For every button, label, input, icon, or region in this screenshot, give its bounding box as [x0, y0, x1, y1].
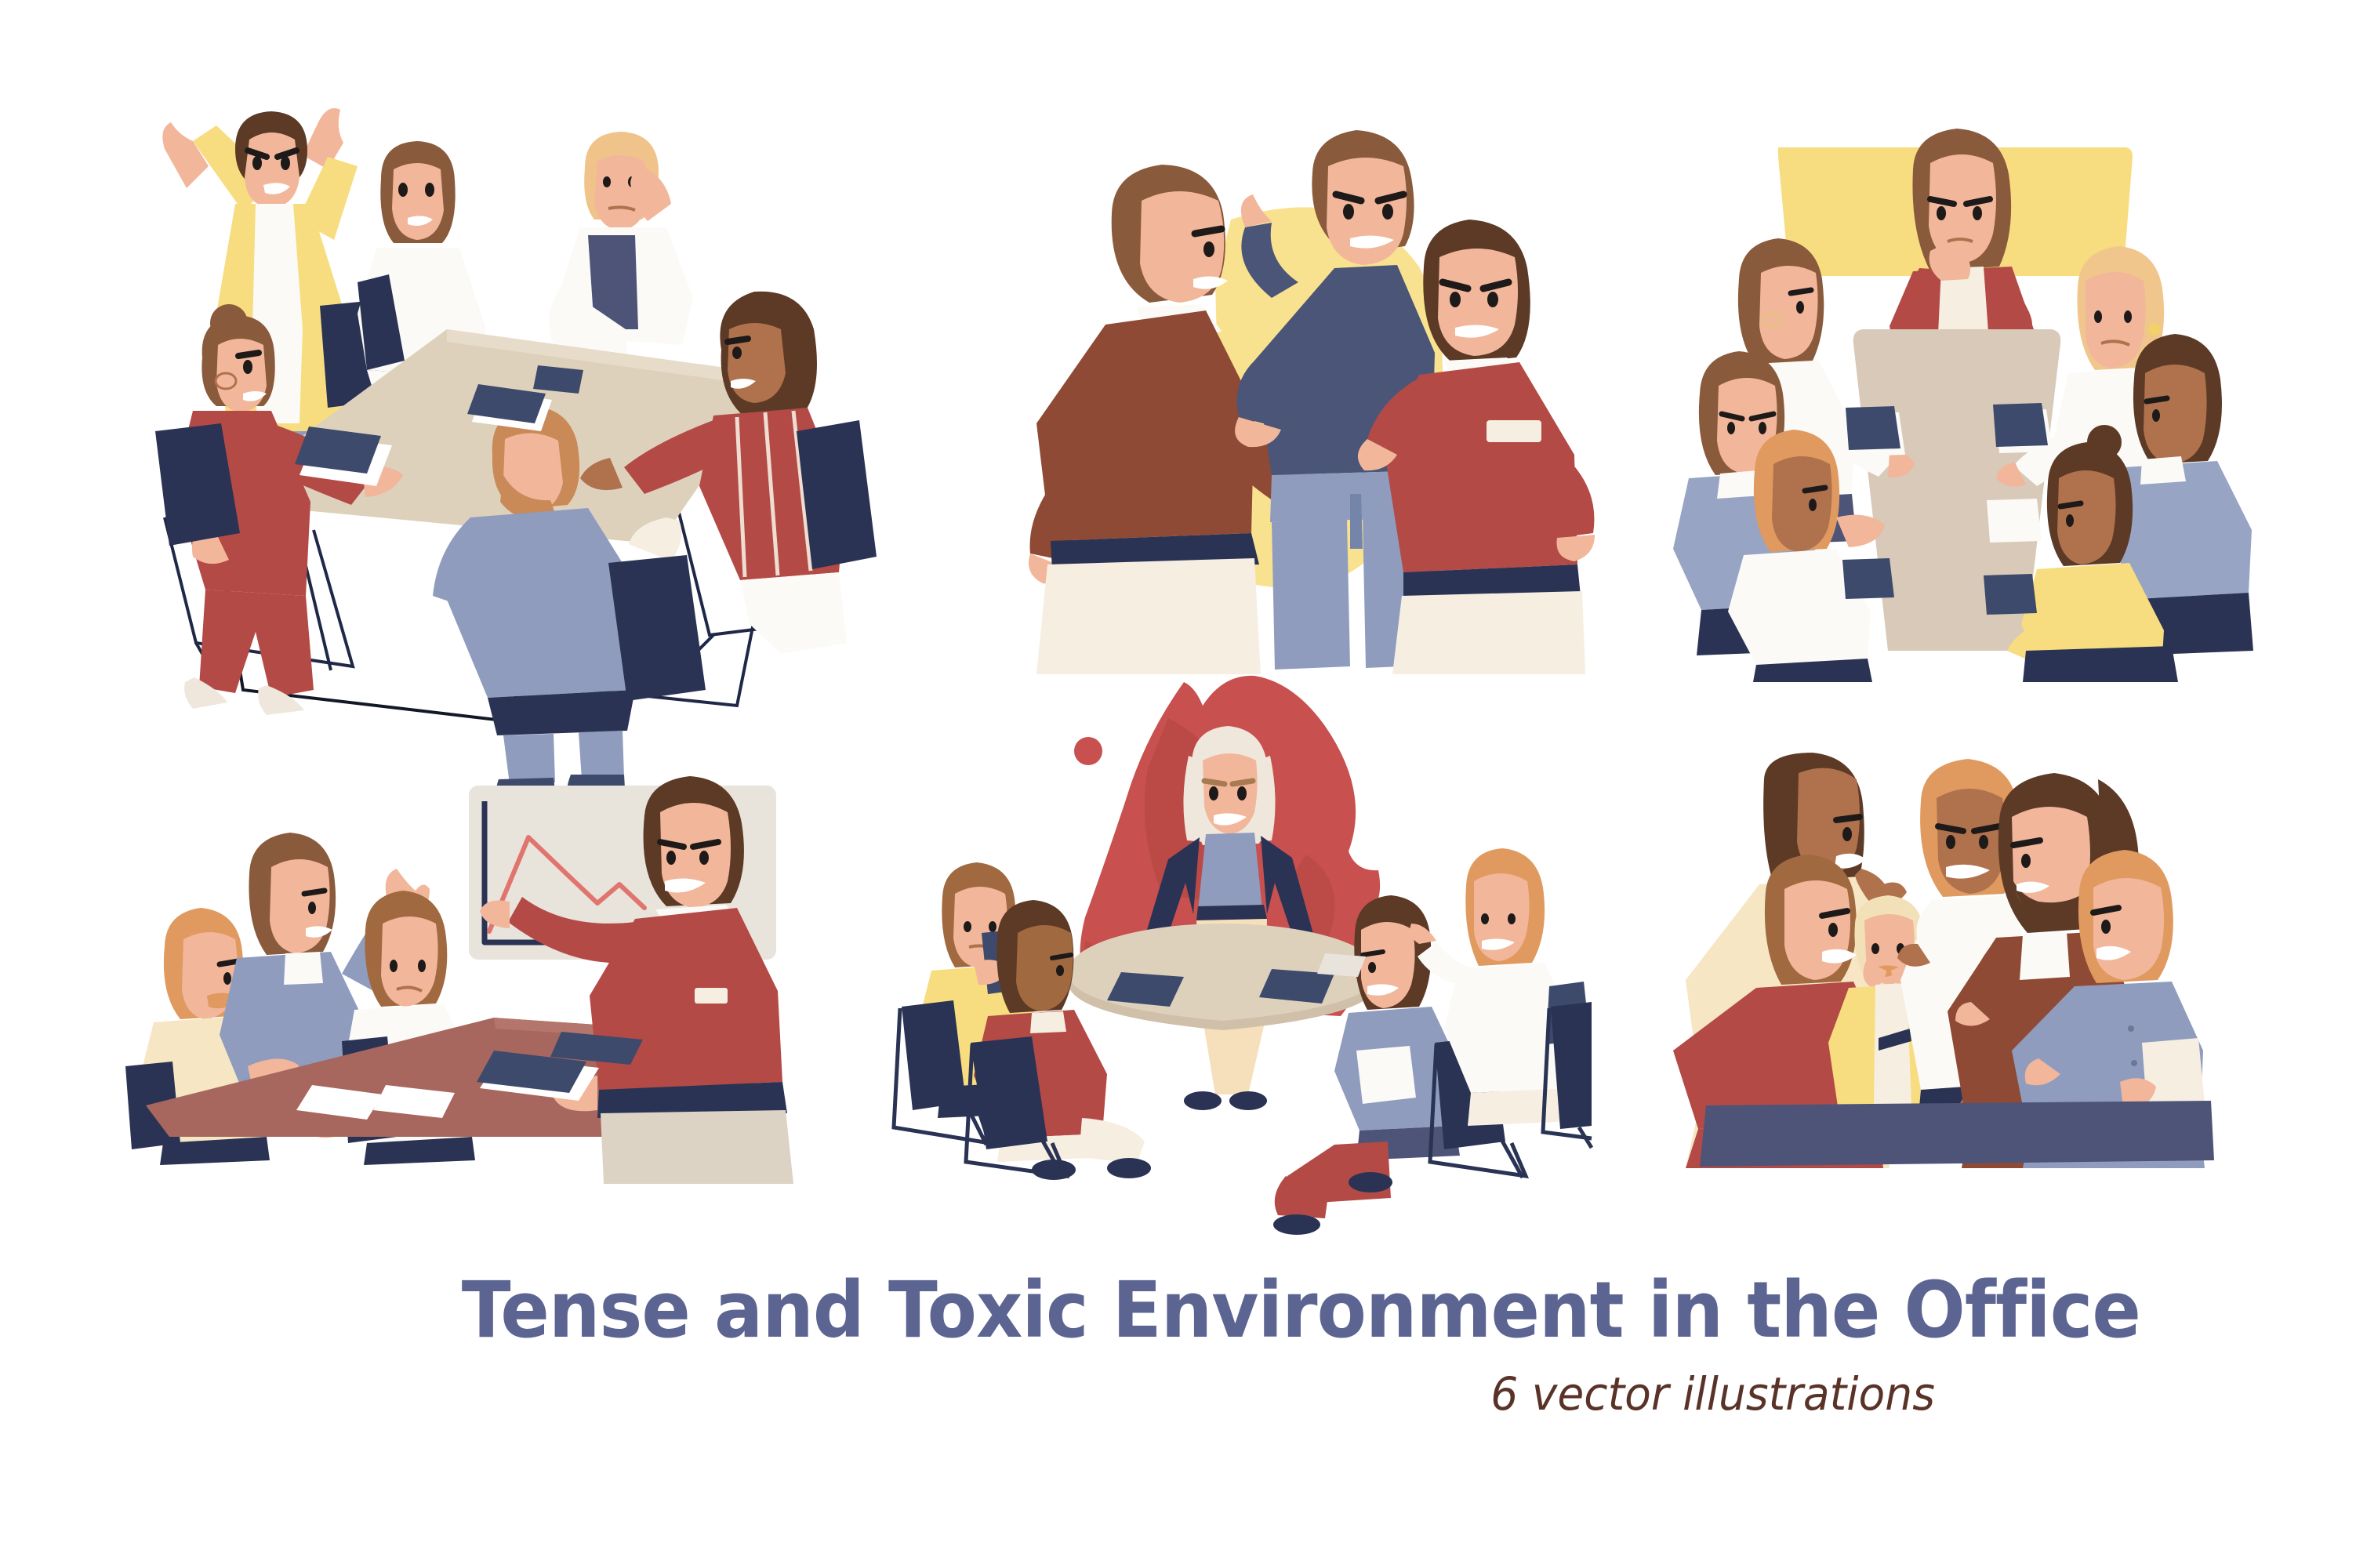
caption-block: Tense and Toxic Environment in the Offic… [408, 1270, 1948, 1420]
panel-furious-boss-round-table-fire [886, 674, 1592, 1184]
panel-boss-head-of-table-meeting [1654, 102, 2282, 682]
panel-angry-presenter-declining-chart [118, 768, 823, 1184]
page-subtitle: 6 vector illustrations [485, 1370, 1948, 1420]
blue-desk [1700, 1101, 2214, 1167]
illustration-sheet: Tense and Toxic Environment in the Offic… [0, 0, 2356, 1568]
panel-angry-meeting-rectangular-table [118, 94, 862, 698]
chair-back [2023, 646, 2178, 682]
person-blonde-head-in-hands [549, 132, 693, 354]
panel-three-coworkers-arguing [996, 125, 1623, 674]
panel-group-confronting-colleague [1631, 753, 2274, 1168]
page-title: Tense and Toxic Environment in the Offic… [462, 1270, 1894, 1352]
